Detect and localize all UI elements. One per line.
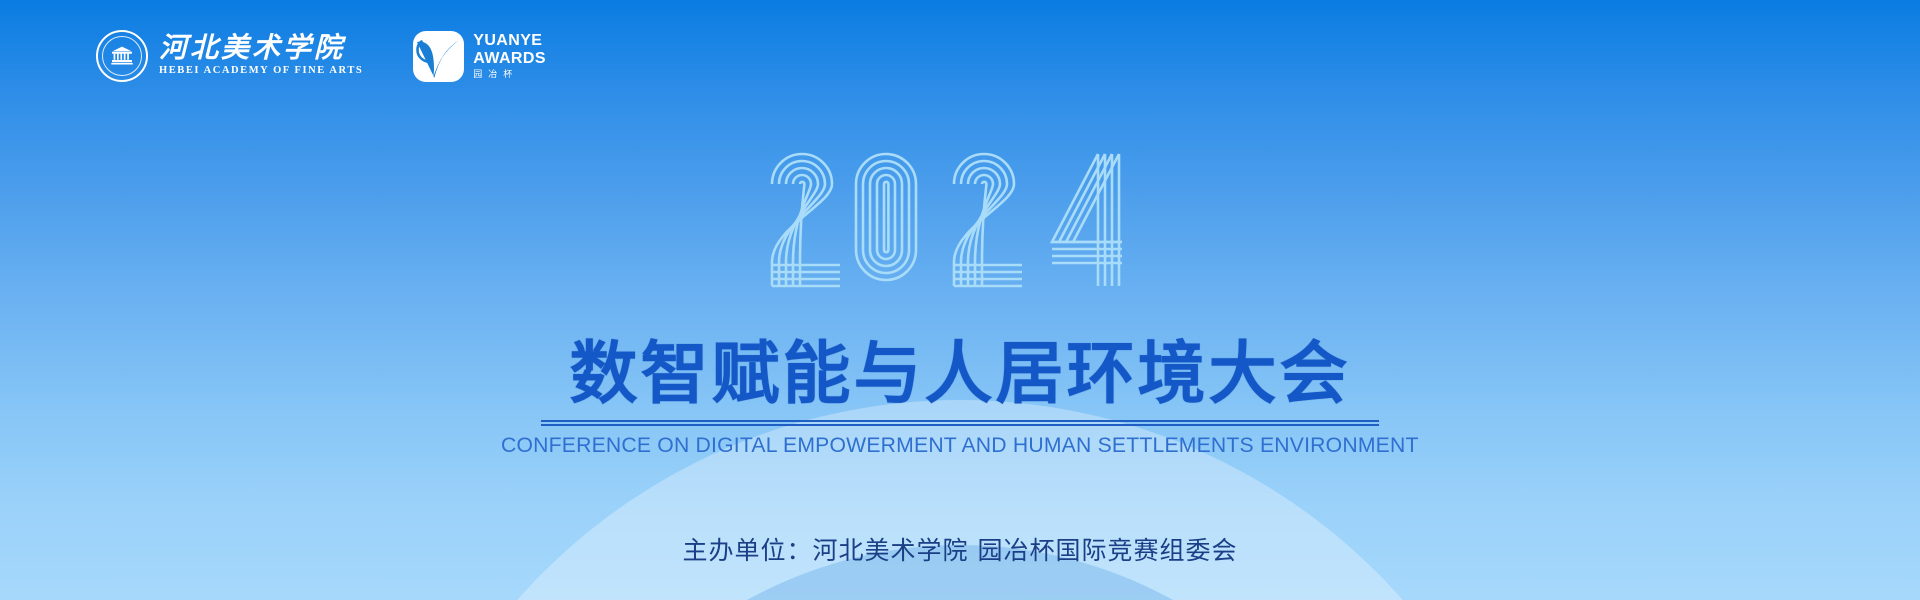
- academy-seal-icon: [96, 30, 148, 82]
- conference-banner: 河北美术学院 HEBEI ACADEMY OF FINE ARTS YUANYE…: [0, 0, 1920, 600]
- logo-row: 河北美术学院 HEBEI ACADEMY OF FINE ARTS YUANYE…: [96, 30, 546, 82]
- title-block: 数智赋能与人居环境大会 CONFERENCE ON DIGITAL EMPOWE…: [0, 338, 1920, 458]
- yuanye-line1: YUANYE: [473, 33, 546, 49]
- year-graphic: [0, 138, 1920, 288]
- hebei-name-cn: 河北美术学院: [159, 35, 363, 63]
- hebei-academy-logo[interactable]: 河北美术学院 HEBEI ACADEMY OF FINE ARTS: [96, 30, 363, 82]
- organizer-line: 主办单位：河北美术学院 园冶杯国际竞赛组委会: [0, 531, 1920, 567]
- hebei-name-en: HEBEI ACADEMY OF FINE ARTS: [159, 66, 363, 77]
- yuanye-awards-logo[interactable]: YUANYE AWARDS 园冶杯: [413, 31, 546, 82]
- page-title: 数智赋能与人居环境大会: [569, 338, 1350, 411]
- yuanye-name-cn: 园冶杯: [473, 70, 546, 79]
- yuanye-swoosh-icon: [413, 31, 464, 82]
- title-divider: [541, 420, 1379, 426]
- yuanye-line2: AWARDS: [473, 51, 546, 67]
- page-subtitle: CONFERENCE ON DIGITAL EMPOWERMENT AND HU…: [501, 433, 1419, 458]
